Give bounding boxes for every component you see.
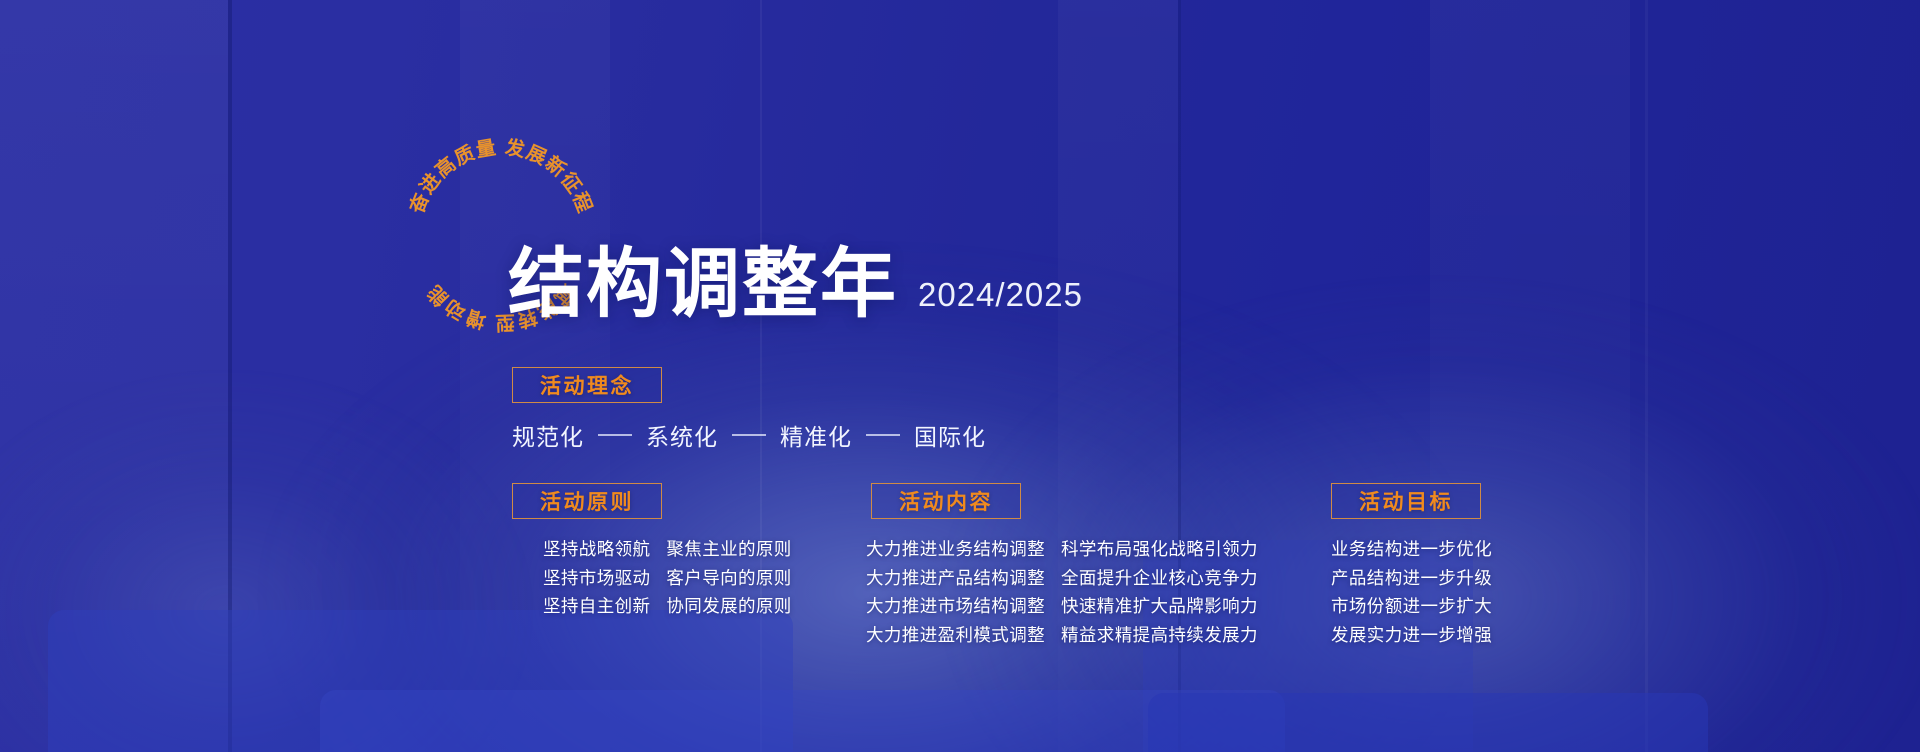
concept-item: 国际化 (914, 418, 986, 452)
content-text-a: 大力推进盈利模式调整 (866, 621, 1045, 650)
list-item: 产品结构进一步升级 (1331, 564, 1492, 593)
principle-text-a: 坚持自主创新 (543, 592, 650, 621)
principle-text-b: 协同发展的原则 (666, 592, 791, 621)
dash-divider-icon (732, 434, 766, 436)
principle-text-b: 客户导向的原则 (666, 564, 791, 593)
list-item: 市场份额进一步扩大 (1331, 592, 1492, 621)
principle-text-a: 坚持市场驱动 (543, 564, 650, 593)
content-text-b: 科学布局强化战略引领力 (1061, 535, 1258, 564)
list-item: 大力推进盈利模式调整 精益求精提高持续发展力 (866, 621, 1258, 650)
dash-divider-icon (598, 434, 632, 436)
list-item: 发展实力进一步增强 (1331, 621, 1492, 650)
list-item: 大力推进业务结构调整 科学布局强化战略引领力 (866, 535, 1258, 564)
year-label: 2024/2025 (918, 276, 1083, 314)
list-item: 大力推进产品结构调整 全面提升企业核心竞争力 (866, 564, 1258, 593)
content-text-a: 大力推进业务结构调整 (866, 535, 1045, 564)
list-item: 业务结构进一步优化 (1331, 535, 1492, 564)
list-item: 坚持自主创新 协同发展的原则 (543, 592, 792, 621)
badge-activity-content[interactable]: 活动内容 (871, 483, 1021, 519)
badge-activity-principle[interactable]: 活动原则 (512, 483, 662, 519)
list-item: 大力推进市场结构调整 快速精准扩大品牌影响力 (866, 592, 1258, 621)
principle-text-b: 聚焦主业的原则 (666, 535, 791, 564)
dash-divider-icon (866, 434, 900, 436)
badge-activity-goal[interactable]: 活动目标 (1331, 483, 1481, 519)
concept-items-line: 规范化 系统化 精准化 国际化 (512, 418, 986, 452)
principle-text-a: 坚持战略领航 (543, 535, 650, 564)
seal-top-text: 奋进高质量 发展新征程 (405, 135, 596, 217)
title-row: 结构调整年 2024/2025 (508, 246, 1083, 322)
concept-item: 系统化 (646, 418, 718, 452)
content-text-b: 精益求精提高持续发展力 (1061, 621, 1258, 650)
content-text-a: 大力推进市场结构调整 (866, 592, 1045, 621)
content-text-b: 全面提升企业核心竞争力 (1061, 564, 1258, 593)
list-item: 坚持市场驱动 客户导向的原则 (543, 564, 792, 593)
concept-item: 精准化 (780, 418, 852, 452)
promotional-banner: 奋进高质量 发展新征程 赋能转型 增动能 结构调整年 2024/2025 活动理… (0, 0, 1920, 752)
content-text-b: 快速精准扩大品牌影响力 (1061, 592, 1258, 621)
principles-list: 坚持战略领航 聚焦主业的原则 坚持市场驱动 客户导向的原则 坚持自主创新 协同发… (543, 535, 792, 621)
concept-item: 规范化 (512, 418, 584, 452)
goals-list: 业务结构进一步优化 产品结构进一步升级 市场份额进一步扩大 发展实力进一步增强 (1331, 535, 1492, 649)
content-text-a: 大力推进产品结构调整 (866, 564, 1045, 593)
list-item: 坚持战略领航 聚焦主业的原则 (543, 535, 792, 564)
contents-list: 大力推进业务结构调整 科学布局强化战略引领力 大力推进产品结构调整 全面提升企业… (866, 535, 1258, 649)
page-title: 结构调整年 (508, 246, 898, 322)
badge-activity-concept[interactable]: 活动理念 (512, 367, 662, 403)
